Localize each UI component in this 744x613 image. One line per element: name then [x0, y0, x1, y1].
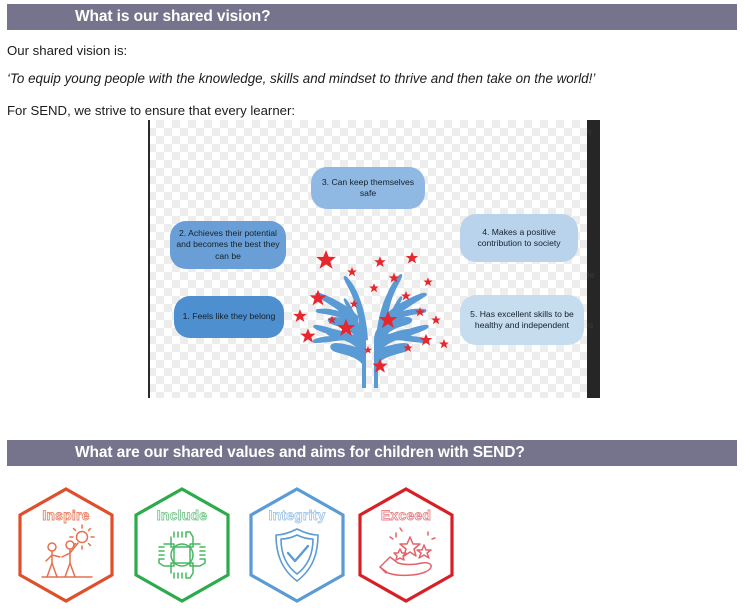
vision-lead-in-text: For SEND, we strive to ensure that every…: [7, 103, 295, 120]
value-card-include[interactable]: Include: [128, 485, 236, 605]
hands-tree-icon: [288, 220, 468, 390]
outcome-bubble-2: 2. Achieves their potential and becomes …: [170, 221, 286, 269]
vision-diagram-image: 1. Feels like they belong 2. Achieves th…: [148, 120, 600, 398]
vision-intro-text: Our shared vision is:: [7, 43, 127, 60]
outcome-bubble-4: 4. Makes a positive contribution to soci…: [460, 214, 578, 262]
image-right-edge-panel: Pl De ou: [587, 120, 600, 398]
vision-quote-text: ‘To equip young people with the knowledg…: [7, 71, 595, 88]
value-card-exceed[interactable]: Exceed: [352, 485, 460, 605]
values-section-header: What are our shared values and aims for …: [7, 440, 737, 466]
vision-section-header: What is our shared vision?: [7, 4, 737, 30]
outcome-bubble-3: 3. Can keep themselves safe: [311, 167, 425, 209]
include-hexagon-shape: [128, 485, 236, 605]
vision-section-title: What is our shared vision?: [75, 8, 271, 26]
values-section-title: What are our shared values and aims for …: [75, 444, 525, 462]
image-left-border: [148, 120, 150, 398]
exceed-hexagon-shape: [352, 485, 460, 605]
outcome-bubble-1: 1. Feels like they belong: [174, 296, 284, 338]
values-hexagon-row: Inspire Include: [0, 485, 744, 610]
outcome-bubble-5: 5. Has excellent skills to be healthy an…: [460, 295, 584, 345]
integrity-hexagon-shape: [243, 485, 351, 605]
value-card-integrity[interactable]: Integrity: [243, 485, 351, 605]
inspire-hexagon-shape: [12, 485, 120, 605]
value-card-inspire[interactable]: Inspire: [12, 485, 120, 605]
